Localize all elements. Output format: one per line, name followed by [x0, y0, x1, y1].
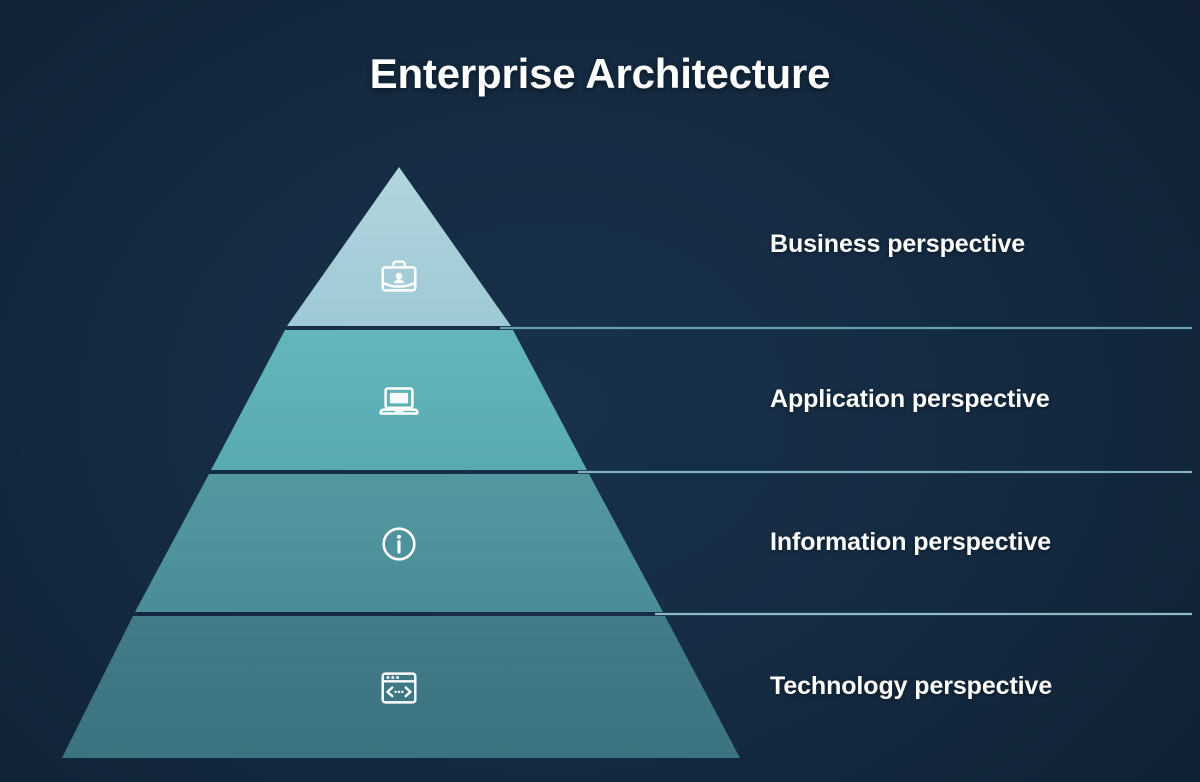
laptop-icon [376, 378, 422, 424]
tier-label-information: Information perspective [770, 528, 1051, 557]
tier-label-business: Business perspective [770, 230, 1025, 259]
browser-arrows-icon [376, 665, 422, 711]
info-circle-icon [376, 521, 422, 567]
pyramid-tier-business[interactable] [287, 167, 511, 326]
tier-label-technology: Technology perspective [770, 672, 1052, 701]
briefcase-person-icon [376, 253, 422, 299]
tier-label-application: Application perspective [770, 385, 1050, 414]
slide-canvas: Enterprise Architecture [0, 0, 1200, 782]
